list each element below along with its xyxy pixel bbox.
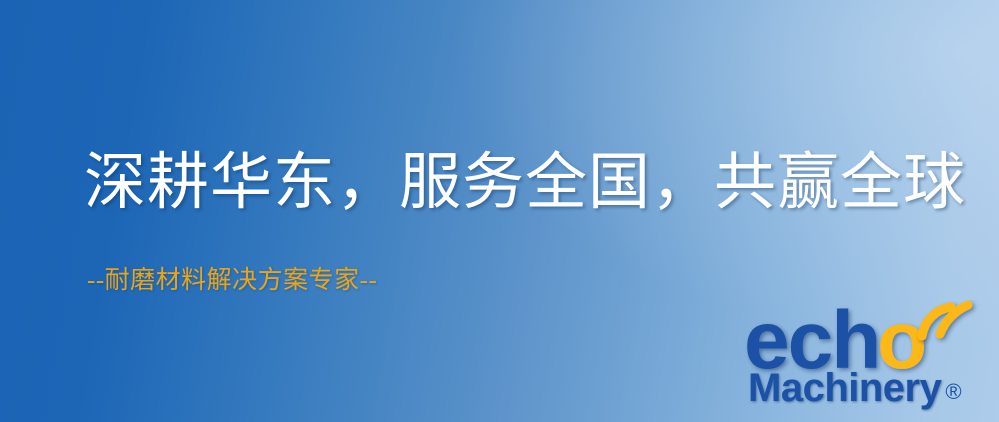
echo-machinery-logo[interactable]: ech o Machinery ®	[744, 300, 996, 418]
banner-headline: 深耕华东，服务全国，共赢全球	[84, 152, 966, 214]
registered-trademark-symbol: ®	[945, 379, 961, 405]
logo-subtext-row: Machinery ®	[748, 368, 996, 414]
banner-subtitle: --耐磨材料解决方案专家--	[87, 268, 377, 293]
promo-banner: 深耕华东，服务全国，共赢全球 --耐磨材料解决方案专家-- ech o Mach…	[0, 0, 999, 422]
logo-subtext: Machinery	[748, 368, 941, 408]
signal-waves-icon	[922, 305, 968, 336]
